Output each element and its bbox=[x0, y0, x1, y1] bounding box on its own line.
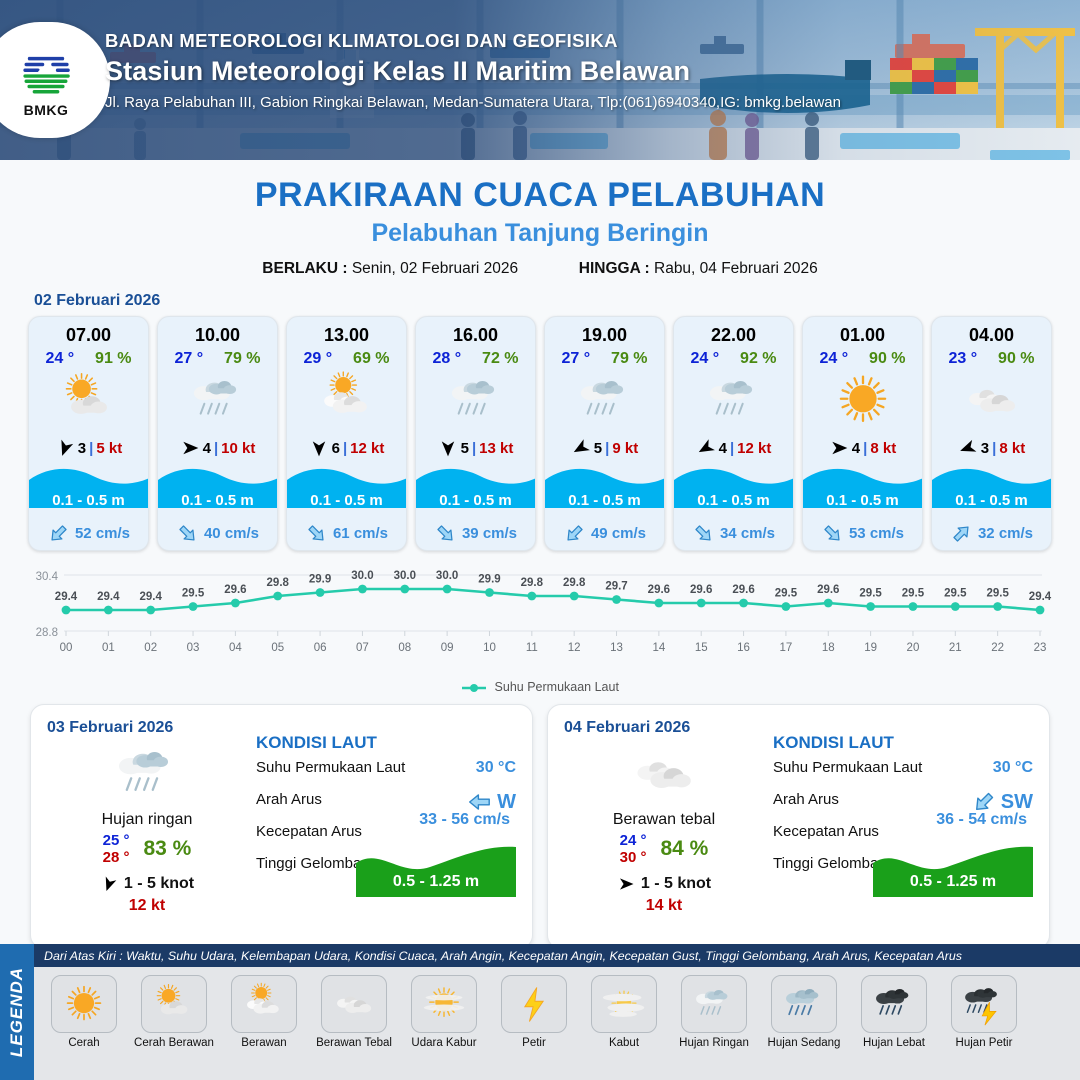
sea-conditions-header: KONDISI LAUT bbox=[256, 733, 516, 753]
wind-direction-arrow bbox=[438, 438, 458, 458]
card-wave-height: 0.1 - 0.5 m bbox=[287, 492, 406, 509]
weather-icon-hujan-ringan bbox=[445, 369, 507, 431]
current-direction-arrow bbox=[305, 522, 328, 545]
weather-icon-hujan-ringan bbox=[187, 369, 249, 431]
svg-text:29.4: 29.4 bbox=[97, 591, 120, 603]
current-direction-arrow bbox=[47, 522, 70, 545]
sst-chart: 30.428.800010203040506070809101112131415… bbox=[0, 559, 1080, 684]
card-humidity: 79 % bbox=[611, 350, 647, 368]
card-wind-speed: 8 kt bbox=[870, 440, 896, 457]
daily-temp-max: 30 ° bbox=[620, 849, 647, 866]
sea-value-current-speed: 36 - 54 cm/s bbox=[936, 811, 1027, 829]
legend-icon-box bbox=[591, 975, 657, 1033]
svg-text:29.6: 29.6 bbox=[648, 584, 670, 596]
hourly-card: 19.00 27 ° 79 % 5 | 9 bbox=[544, 316, 665, 551]
card-current: 49 cm/s bbox=[545, 516, 664, 550]
sea-label-sst: Suhu Permukaan Laut bbox=[256, 759, 405, 776]
card-temp-hum: 29 ° 69 % bbox=[287, 346, 406, 368]
card-wave: 0.1 - 0.5 m bbox=[416, 464, 535, 516]
daily-left-column: Berawan tebal 24 ° 30 ° 84 % 1 - 5 knot … bbox=[564, 741, 764, 915]
daily-temp-hum: 25 ° 28 ° 83 % bbox=[47, 832, 247, 867]
weather-icon-hujan-ringan bbox=[574, 369, 636, 431]
svg-text:29.9: 29.9 bbox=[478, 574, 500, 586]
svg-text:29.8: 29.8 bbox=[267, 577, 290, 589]
weather-icon-berawan-tebal bbox=[628, 738, 700, 810]
legend-body: Dari Atas Kiri : Waktu, Suhu Udara, Kele… bbox=[34, 944, 1080, 1080]
legend-item-label: Berawan Tebal bbox=[312, 1037, 396, 1049]
card-time: 19.00 bbox=[545, 317, 664, 346]
card-temperature: 23 ° bbox=[948, 350, 977, 368]
svg-text:01: 01 bbox=[102, 642, 115, 654]
card-current: 61 cm/s bbox=[287, 516, 406, 550]
card-wind-degree: 5 bbox=[461, 440, 469, 457]
card-current: 32 cm/s bbox=[932, 516, 1051, 550]
legend-item-label: Hujan Ringan bbox=[672, 1037, 756, 1049]
svg-text:21: 21 bbox=[949, 642, 962, 654]
daily-sea-conditions: KONDISI LAUT Suhu Permukaan Laut 30 °C A… bbox=[256, 733, 516, 887]
card-wind-speed: 5 kt bbox=[96, 440, 122, 457]
current-direction-arrow bbox=[176, 522, 199, 545]
legend-item-label: Petir bbox=[492, 1037, 576, 1049]
wind-direction-arrow bbox=[829, 438, 849, 458]
weather-icon-hujan-ringan bbox=[703, 369, 765, 431]
card-wind-speed: 12 kt bbox=[737, 440, 771, 457]
daily-wave-text: 0.5 - 1.25 m bbox=[873, 873, 1033, 891]
weather-icon-berawan bbox=[316, 369, 378, 431]
sea-value-sst: 30 °C bbox=[476, 759, 516, 777]
card-wave-height: 0.1 - 0.5 m bbox=[416, 492, 535, 509]
card-wave: 0.1 - 0.5 m bbox=[803, 464, 922, 516]
legend-item-label: Hujan Lebat bbox=[852, 1037, 936, 1049]
card-temperature: 24 ° bbox=[45, 350, 74, 368]
legend-icon-box bbox=[51, 975, 117, 1033]
svg-text:29.5: 29.5 bbox=[986, 588, 1009, 600]
card-wave: 0.1 - 0.5 m bbox=[545, 464, 664, 516]
legend-icon-box bbox=[681, 975, 747, 1033]
legend-item: Hujan Sedang bbox=[762, 975, 846, 1049]
svg-text:12: 12 bbox=[568, 642, 581, 654]
svg-text:29.4: 29.4 bbox=[140, 591, 163, 603]
svg-text:30.0: 30.0 bbox=[394, 570, 416, 582]
card-time: 07.00 bbox=[29, 317, 148, 346]
legend-item-label: Hujan Petir bbox=[942, 1037, 1026, 1049]
svg-text:29.8: 29.8 bbox=[563, 577, 586, 589]
card-wind-degree: 4 bbox=[852, 440, 860, 457]
weather-icon-cerah bbox=[832, 369, 894, 431]
card-wind-separator: | bbox=[605, 440, 609, 457]
svg-text:00: 00 bbox=[60, 642, 73, 654]
card-humidity: 91 % bbox=[95, 350, 131, 368]
svg-text:10: 10 bbox=[483, 642, 496, 654]
legend-item-label: Berawan bbox=[222, 1037, 306, 1049]
card-time: 13.00 bbox=[287, 317, 406, 346]
hourly-card: 16.00 28 ° 72 % 5 | 13 bbox=[415, 316, 536, 551]
card-temperature: 24 ° bbox=[690, 350, 719, 368]
svg-text:18: 18 bbox=[822, 642, 835, 654]
legend-icon-box bbox=[501, 975, 567, 1033]
weather-icon-hujan-ringan bbox=[111, 738, 183, 810]
daily-weather-icon bbox=[47, 741, 247, 807]
wind-direction-arrow bbox=[696, 438, 716, 458]
svg-text:03: 03 bbox=[187, 642, 200, 654]
daily-left-column: Hujan ringan 25 ° 28 ° 83 % 1 - 5 knot 1… bbox=[47, 741, 247, 915]
card-wind: 4 | 12 kt bbox=[674, 432, 793, 464]
card-humidity: 90 % bbox=[998, 350, 1034, 368]
bmkg-logo-icon bbox=[17, 43, 75, 101]
legend-tab: LEGENDA bbox=[0, 944, 34, 1080]
svg-text:13: 13 bbox=[610, 642, 623, 654]
weather-icon-kabut bbox=[601, 981, 647, 1027]
legend-item: Hujan Lebat bbox=[852, 975, 936, 1049]
card-time: 22.00 bbox=[674, 317, 793, 346]
svg-text:09: 09 bbox=[441, 642, 454, 654]
daily-temp-max: 28 ° bbox=[103, 849, 130, 866]
daily-forecast-panel: 04 Februari 2026 Berawan tebal 24 ° 30 °… bbox=[547, 704, 1050, 949]
weather-icon-berawan-tebal bbox=[331, 981, 377, 1027]
card-current-speed: 53 cm/s bbox=[849, 525, 904, 542]
wind-direction-arrow bbox=[309, 438, 329, 458]
card-wave-height: 0.1 - 0.5 m bbox=[29, 492, 148, 509]
svg-text:08: 08 bbox=[398, 642, 411, 654]
legend-item: Cerah bbox=[42, 975, 126, 1049]
svg-text:07: 07 bbox=[356, 642, 369, 654]
svg-text:28.8: 28.8 bbox=[36, 627, 58, 639]
card-current-speed: 61 cm/s bbox=[333, 525, 388, 542]
legend-item: Udara Kabur bbox=[402, 975, 486, 1049]
card-humidity: 92 % bbox=[740, 350, 776, 368]
card-wave-height: 0.1 - 0.5 m bbox=[545, 492, 664, 509]
svg-text:20: 20 bbox=[907, 642, 920, 654]
card-temperature: 28 ° bbox=[432, 350, 461, 368]
weather-icon-cerah-berawan bbox=[58, 369, 120, 431]
svg-text:22: 22 bbox=[991, 642, 1004, 654]
card-temp-hum: 28 ° 72 % bbox=[416, 346, 535, 368]
agency-name: BADAN METEOROLOGI KLIMATOLOGI DAN GEOFIS… bbox=[105, 30, 841, 52]
card-current-speed: 40 cm/s bbox=[204, 525, 259, 542]
card-wind: 6 | 12 kt bbox=[287, 432, 406, 464]
card-wind-degree: 5 bbox=[594, 440, 602, 457]
sea-row-sst: Suhu Permukaan Laut 30 °C bbox=[773, 759, 1033, 791]
daily-wind-range: 1 - 5 knot bbox=[641, 875, 711, 893]
legend-item-label: Kabut bbox=[582, 1037, 666, 1049]
hourly-card: 04.00 23 ° 90 % 3 | 8 kt bbox=[931, 316, 1052, 551]
card-wind: 4 | 10 kt bbox=[158, 432, 277, 464]
card-wave: 0.1 - 0.5 m bbox=[932, 464, 1051, 516]
svg-text:23: 23 bbox=[1034, 642, 1047, 654]
svg-text:29.6: 29.6 bbox=[817, 584, 839, 596]
berlaku-value: Senin, 02 Februari 2026 bbox=[352, 260, 518, 277]
card-wind-separator: | bbox=[730, 440, 734, 457]
svg-text:17: 17 bbox=[780, 642, 793, 654]
berlaku-label: BERLAKU : bbox=[262, 260, 347, 277]
sea-label-current-direction: Arah Arus bbox=[773, 791, 839, 808]
current-direction-arrow bbox=[563, 522, 586, 545]
card-wind-degree: 3 bbox=[78, 440, 86, 457]
svg-text:29.8: 29.8 bbox=[521, 577, 544, 589]
sea-label-current-speed: Kecepatan Arus bbox=[773, 823, 879, 840]
daily-temp-min: 24 ° bbox=[620, 832, 647, 849]
legend-item: Petir bbox=[492, 975, 576, 1049]
page-subtitle: Pelabuhan Tanjung Beringin bbox=[0, 219, 1080, 248]
hingga-label: HINGGA : bbox=[579, 260, 650, 277]
daily-wind-range: 1 - 5 knot bbox=[124, 875, 194, 893]
weather-icon-petir bbox=[511, 981, 557, 1027]
weather-icon-hujan-sedang bbox=[781, 981, 827, 1027]
current-direction-arrow bbox=[434, 522, 457, 545]
legend-item: Cerah Berawan bbox=[132, 975, 216, 1049]
card-wind: 3 | 5 kt bbox=[29, 432, 148, 464]
hingga-value: Rabu, 04 Februari 2026 bbox=[654, 260, 818, 277]
legend-item: Berawan Tebal bbox=[312, 975, 396, 1049]
card-weather-icon bbox=[932, 368, 1051, 432]
sea-value-wave-height: 0.5 - 1.25 m bbox=[873, 843, 1033, 897]
weather-icon-berawan bbox=[241, 981, 287, 1027]
legend-icon-box bbox=[231, 975, 297, 1033]
legend-note: Dari Atas Kiri : Waktu, Suhu Udara, Kele… bbox=[34, 944, 1080, 967]
daily-temp-min: 25 ° bbox=[103, 832, 130, 849]
wind-direction-arrow bbox=[180, 438, 200, 458]
card-wind: 4 | 8 kt bbox=[803, 432, 922, 464]
legend-item: Berawan bbox=[222, 975, 306, 1049]
card-current: 40 cm/s bbox=[158, 516, 277, 550]
card-humidity: 90 % bbox=[869, 350, 905, 368]
sea-value-current-speed: 33 - 56 cm/s bbox=[419, 811, 510, 829]
hourly-card: 10.00 27 ° 79 % 4 | 10 bbox=[157, 316, 278, 551]
svg-text:19: 19 bbox=[864, 642, 877, 654]
current-direction-arrow bbox=[821, 522, 844, 545]
card-time: 16.00 bbox=[416, 317, 535, 346]
card-wind-degree: 4 bbox=[203, 440, 211, 457]
card-current: 52 cm/s bbox=[29, 516, 148, 550]
legend-icon-box bbox=[411, 975, 477, 1033]
card-wind-separator: | bbox=[89, 440, 93, 457]
svg-text:29.9: 29.9 bbox=[309, 574, 331, 586]
card-wind-separator: | bbox=[472, 440, 476, 457]
svg-text:30.0: 30.0 bbox=[436, 570, 458, 582]
hourly-forecast-row: 07.00 24 ° 91 % 3 | 5 kt 0.1 - 0.5 bbox=[0, 316, 1080, 551]
card-wind-speed: 12 kt bbox=[350, 440, 384, 457]
daily-forecast-row: 03 Februari 2026 Hujan ringan 25 ° 28 ° bbox=[0, 694, 1080, 949]
card-current-speed: 34 cm/s bbox=[720, 525, 775, 542]
card-wind-speed: 10 kt bbox=[221, 440, 255, 457]
card-weather-icon bbox=[545, 368, 664, 432]
daily-sea-conditions: KONDISI LAUT Suhu Permukaan Laut 30 °C A… bbox=[773, 733, 1033, 887]
legend-icon-box bbox=[951, 975, 1017, 1033]
daily-wind: 1 - 5 knot bbox=[564, 875, 764, 893]
page-title: PRAKIRAAN CUACA PELABUHAN bbox=[0, 176, 1080, 215]
svg-text:02: 02 bbox=[144, 642, 157, 654]
sea-row-sst: Suhu Permukaan Laut 30 °C bbox=[256, 759, 516, 791]
card-weather-icon bbox=[674, 368, 793, 432]
card-temp-hum: 24 ° 91 % bbox=[29, 346, 148, 368]
card-wind-degree: 3 bbox=[981, 440, 989, 457]
card-temp-hum: 24 ° 90 % bbox=[803, 346, 922, 368]
station-name: Stasiun Meteorologi Kelas II Maritim Bel… bbox=[105, 56, 841, 87]
card-wind-separator: | bbox=[214, 440, 218, 457]
legend-item-label: Hujan Sedang bbox=[762, 1037, 846, 1049]
weather-icon-hujan-lebat bbox=[871, 981, 917, 1027]
card-temperature: 29 ° bbox=[303, 350, 332, 368]
chart-legend-swatch bbox=[461, 683, 487, 693]
daily-gust: 12 kt bbox=[47, 897, 247, 915]
card-humidity: 72 % bbox=[482, 350, 518, 368]
weather-icon-udara-kabur bbox=[421, 981, 467, 1027]
card-wind: 5 | 9 kt bbox=[545, 432, 664, 464]
sea-conditions-header: KONDISI LAUT bbox=[773, 733, 1033, 753]
card-weather-icon bbox=[158, 368, 277, 432]
svg-text:29.6: 29.6 bbox=[224, 584, 246, 596]
hourly-card: 07.00 24 ° 91 % 3 | 5 kt 0.1 - 0.5 bbox=[28, 316, 149, 551]
sea-value-sst: 30 °C bbox=[993, 759, 1033, 777]
card-wave: 0.1 - 0.5 m bbox=[287, 464, 406, 516]
card-wind-separator: | bbox=[992, 440, 996, 457]
hourly-date-label: 02 Februari 2026 bbox=[34, 292, 1080, 310]
sst-chart-svg: 30.428.800010203040506070809101112131415… bbox=[0, 559, 1080, 684]
legend-section: LEGENDA Dari Atas Kiri : Waktu, Suhu Uda… bbox=[0, 944, 1080, 1080]
card-wind-speed: 9 kt bbox=[612, 440, 638, 457]
svg-text:30.0: 30.0 bbox=[351, 570, 373, 582]
svg-text:15: 15 bbox=[695, 642, 708, 654]
svg-text:16: 16 bbox=[737, 642, 750, 654]
svg-text:29.6: 29.6 bbox=[690, 584, 712, 596]
legend-item: Hujan Ringan bbox=[672, 975, 756, 1049]
svg-text:29.6: 29.6 bbox=[732, 584, 754, 596]
sea-label-current-direction: Arah Arus bbox=[256, 791, 322, 808]
weather-icon-cerah bbox=[61, 981, 107, 1027]
daily-gust: 14 kt bbox=[564, 897, 764, 915]
svg-text:11: 11 bbox=[526, 642, 538, 654]
card-wind-speed: 13 kt bbox=[479, 440, 513, 457]
card-time: 01.00 bbox=[803, 317, 922, 346]
card-wave-height: 0.1 - 0.5 m bbox=[158, 492, 277, 509]
card-weather-icon bbox=[803, 368, 922, 432]
wind-direction-arrow bbox=[571, 438, 591, 458]
bmkg-logo-text: BMKG bbox=[24, 102, 69, 118]
card-temp-hum: 23 ° 90 % bbox=[932, 346, 1051, 368]
card-weather-icon bbox=[29, 368, 148, 432]
legend-icon-box bbox=[771, 975, 837, 1033]
card-current-speed: 52 cm/s bbox=[75, 525, 130, 542]
wind-direction-arrow bbox=[55, 438, 75, 458]
card-humidity: 79 % bbox=[224, 350, 260, 368]
legend-item-label: Udara Kabur bbox=[402, 1037, 486, 1049]
legend-icon-box bbox=[861, 975, 927, 1033]
card-wind-speed: 8 kt bbox=[999, 440, 1025, 457]
station-address: Jl. Raya Pelabuhan III, Gabion Ringkai B… bbox=[105, 94, 841, 111]
daily-humidity: 83 % bbox=[143, 837, 191, 861]
card-temp-hum: 27 ° 79 % bbox=[545, 346, 664, 368]
card-humidity: 69 % bbox=[353, 350, 389, 368]
card-temperature: 24 ° bbox=[819, 350, 848, 368]
card-wind-separator: | bbox=[863, 440, 867, 457]
title-block: PRAKIRAAN CUACA PELABUHAN Pelabuhan Tanj… bbox=[0, 160, 1080, 278]
svg-text:29.5: 29.5 bbox=[775, 588, 798, 600]
card-temperature: 27 ° bbox=[174, 350, 203, 368]
legend-item-label: Cerah Berawan bbox=[132, 1037, 216, 1049]
wind-direction-arrow bbox=[100, 875, 118, 893]
legend-item: Hujan Petir bbox=[942, 975, 1026, 1049]
card-wave: 0.1 - 0.5 m bbox=[29, 464, 148, 516]
svg-text:05: 05 bbox=[271, 642, 284, 654]
wind-direction-arrow bbox=[958, 438, 978, 458]
sea-label-current-speed: Kecepatan Arus bbox=[256, 823, 362, 840]
weather-icon-hujan-ringan bbox=[691, 981, 737, 1027]
legend-icon-box bbox=[141, 975, 207, 1033]
legend-items: Cerah Cerah Berawan Berawan bbox=[34, 967, 1080, 1049]
header-text-block: BADAN METEOROLOGI KLIMATOLOGI DAN GEOFIS… bbox=[105, 30, 841, 111]
card-current-speed: 32 cm/s bbox=[978, 525, 1033, 542]
card-current: 53 cm/s bbox=[803, 516, 922, 550]
svg-text:29.7: 29.7 bbox=[605, 581, 627, 593]
card-weather-icon bbox=[287, 368, 406, 432]
svg-text:29.4: 29.4 bbox=[1029, 591, 1052, 603]
current-direction-arrow bbox=[692, 522, 715, 545]
sea-label-sst: Suhu Permukaan Laut bbox=[773, 759, 922, 776]
daily-condition: Berawan tebal bbox=[564, 811, 764, 829]
card-temp-hum: 24 ° 92 % bbox=[674, 346, 793, 368]
card-current-speed: 39 cm/s bbox=[462, 525, 517, 542]
card-wind: 5 | 13 kt bbox=[416, 432, 535, 464]
svg-text:06: 06 bbox=[314, 642, 327, 654]
card-wave-height: 0.1 - 0.5 m bbox=[674, 492, 793, 509]
svg-text:30.4: 30.4 bbox=[36, 571, 59, 583]
daily-humidity: 84 % bbox=[660, 837, 708, 861]
card-current: 39 cm/s bbox=[416, 516, 535, 550]
svg-text:29.4: 29.4 bbox=[55, 591, 78, 603]
daily-weather-icon bbox=[564, 741, 764, 807]
validity-period: BERLAKU : Senin, 02 Februari 2026 HINGGA… bbox=[0, 260, 1080, 278]
hourly-card: 13.00 29 ° 69 % 6 | 12 kt bbox=[286, 316, 407, 551]
card-weather-icon bbox=[416, 368, 535, 432]
daily-temp-hum: 24 ° 30 ° 84 % bbox=[564, 832, 764, 867]
card-temperature: 27 ° bbox=[561, 350, 590, 368]
card-wind-separator: | bbox=[343, 440, 347, 457]
daily-wind: 1 - 5 knot bbox=[47, 875, 247, 893]
svg-text:14: 14 bbox=[652, 642, 665, 654]
card-current-speed: 49 cm/s bbox=[591, 525, 646, 542]
page-header: BMKG BADAN METEOROLOGI KLIMATOLOGI DAN G… bbox=[0, 0, 1080, 160]
legend-tab-label: LEGENDA bbox=[7, 967, 27, 1057]
weather-icon-hujan-petir bbox=[961, 981, 1007, 1027]
svg-text:29.5: 29.5 bbox=[902, 588, 925, 600]
weather-icon-cerah-berawan bbox=[151, 981, 197, 1027]
daily-wave-text: 0.5 - 1.25 m bbox=[356, 873, 516, 891]
svg-text:29.5: 29.5 bbox=[182, 588, 205, 600]
wind-direction-arrow bbox=[617, 875, 635, 893]
card-time: 04.00 bbox=[932, 317, 1051, 346]
hourly-card: 01.00 24 ° 90 % 4 | 8 kt 0.1 - 0.5 m bbox=[802, 316, 923, 551]
card-wave-height: 0.1 - 0.5 m bbox=[803, 492, 922, 509]
daily-condition: Hujan ringan bbox=[47, 811, 247, 829]
card-wave: 0.1 - 0.5 m bbox=[674, 464, 793, 516]
legend-item: Kabut bbox=[582, 975, 666, 1049]
svg-text:29.5: 29.5 bbox=[944, 588, 967, 600]
card-wind-degree: 4 bbox=[719, 440, 727, 457]
daily-forecast-panel: 03 Februari 2026 Hujan ringan 25 ° 28 ° bbox=[30, 704, 533, 949]
weather-icon-berawan-tebal bbox=[961, 369, 1023, 431]
card-wind-degree: 6 bbox=[332, 440, 340, 457]
hourly-card: 22.00 24 ° 92 % 4 | 12 bbox=[673, 316, 794, 551]
legend-item-label: Cerah bbox=[42, 1037, 126, 1049]
card-wave-height: 0.1 - 0.5 m bbox=[932, 492, 1051, 509]
card-wave: 0.1 - 0.5 m bbox=[158, 464, 277, 516]
legend-icon-box bbox=[321, 975, 387, 1033]
sea-value-wave-height: 0.5 - 1.25 m bbox=[356, 843, 516, 897]
card-wind: 3 | 8 kt bbox=[932, 432, 1051, 464]
current-direction-arrow bbox=[950, 522, 973, 545]
card-time: 10.00 bbox=[158, 317, 277, 346]
card-temp-hum: 27 ° 79 % bbox=[158, 346, 277, 368]
